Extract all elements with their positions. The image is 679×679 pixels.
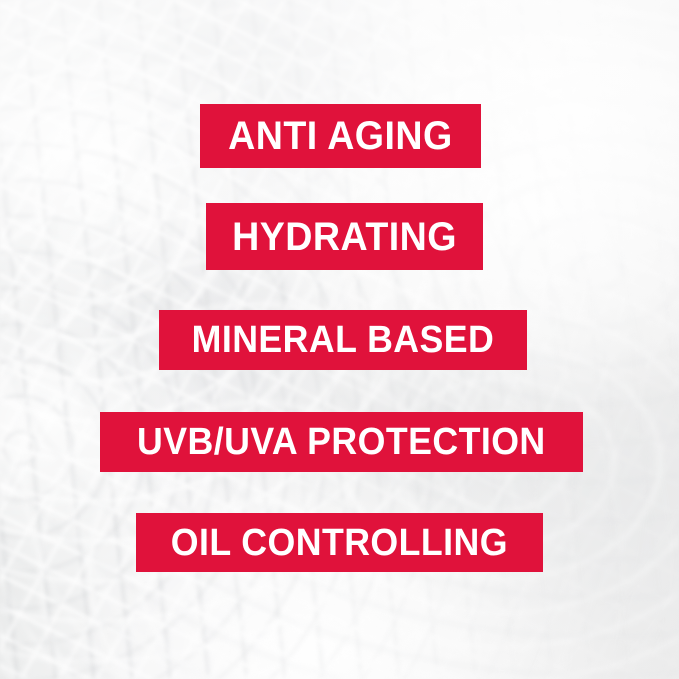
benefit-bar: OIL CONTROLLING <box>136 513 543 572</box>
promo-banner: ANTI AGINGHYDRATINGMINERAL BASEDUVB/UVA … <box>0 0 679 679</box>
benefit-bar: HYDRATING <box>206 203 483 270</box>
benefit-bar: UVB/UVA PROTECTION <box>100 412 583 472</box>
benefit-bar: ANTI AGING <box>200 104 481 168</box>
benefit-bar-label: HYDRATING <box>232 217 457 257</box>
benefit-bar-list: ANTI AGINGHYDRATINGMINERAL BASEDUVB/UVA … <box>0 0 679 679</box>
benefit-bar: MINERAL BASED <box>159 310 527 370</box>
benefit-bar-label: ANTI AGING <box>228 116 453 156</box>
benefit-bar-label: OIL CONTROLLING <box>171 524 508 562</box>
benefit-bar-label: MINERAL BASED <box>192 321 495 359</box>
benefit-bar-label: UVB/UVA PROTECTION <box>137 423 546 461</box>
